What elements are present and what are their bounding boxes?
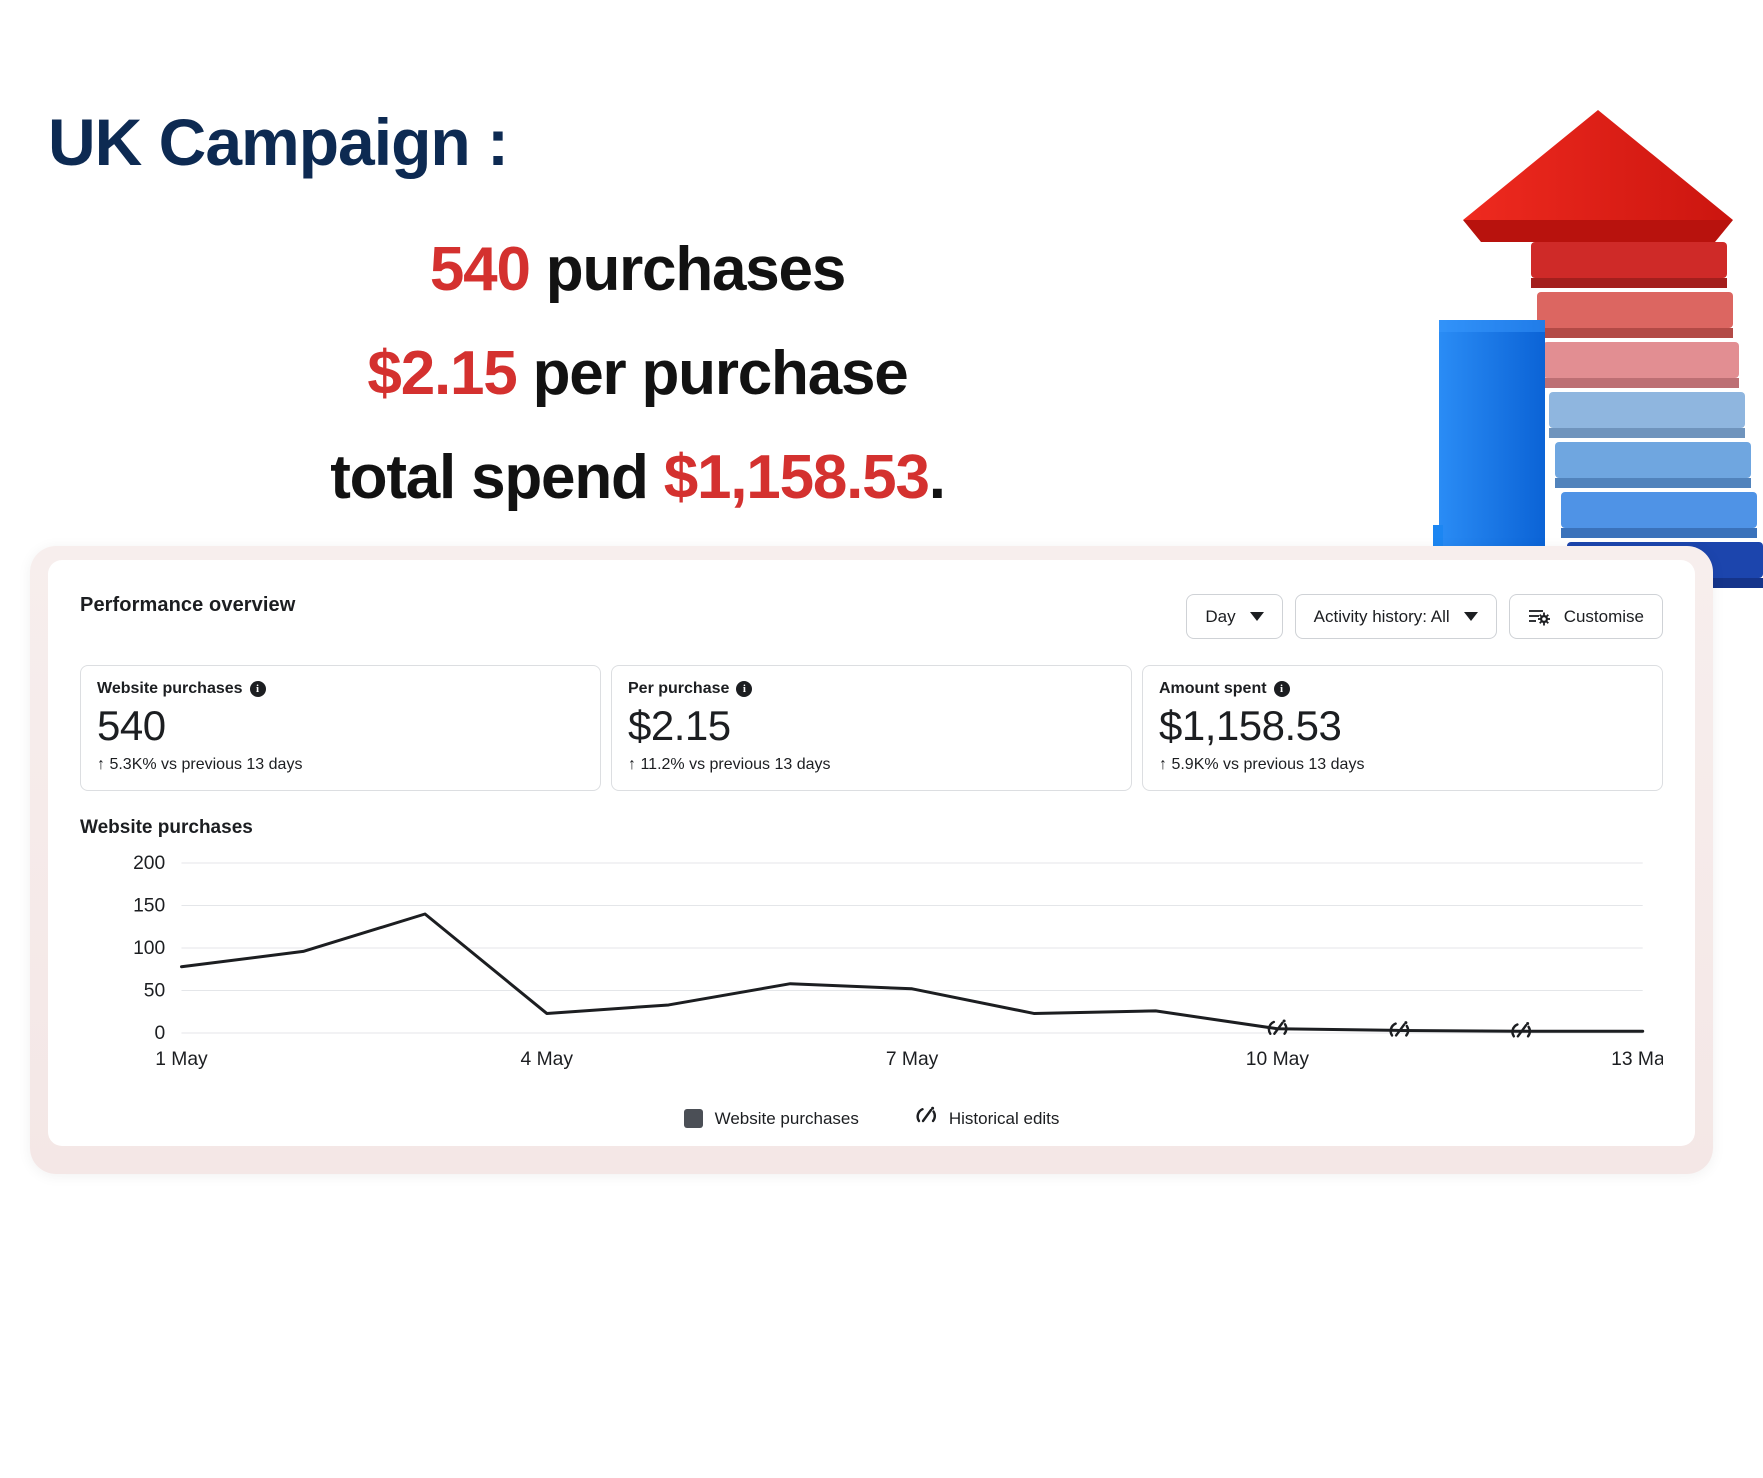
headline-total-spend-value: $1,158.53 — [664, 443, 929, 512]
chevron-down-icon — [1464, 612, 1478, 621]
metric-card-amount-spent: Amount spent i $1,158.53 ↑ 5.9K% vs prev… — [1142, 665, 1663, 791]
day-dropdown[interactable]: Day — [1186, 594, 1282, 639]
metric-delta-text: 5.9K% vs previous 13 days — [1171, 756, 1364, 773]
legend-label: Website purchases — [715, 1109, 859, 1129]
settings-sliders-icon — [1528, 607, 1550, 627]
dashboard-header: Performance overview Day Activity histor… — [80, 594, 1663, 639]
metric-value: 540 — [97, 702, 584, 750]
legend-item-website-purchases: Website purchases — [684, 1109, 859, 1129]
metric-delta-text: 11.2% vs previous 13 days — [640, 756, 830, 773]
svg-text:100: 100 — [133, 938, 165, 959]
metric-cards: Website purchases i 540 ↑ 5.3K% vs previ… — [80, 665, 1663, 791]
svg-text:10 May: 10 May — [1246, 1049, 1310, 1070]
arrow-up-icon: ↑ — [628, 756, 636, 773]
performance-overview-title: Performance overview — [80, 594, 295, 617]
metric-value: $1,158.53 — [1159, 702, 1646, 750]
info-icon[interactable]: i — [1274, 681, 1290, 697]
svg-text:150: 150 — [133, 896, 165, 917]
customise-button[interactable]: Customise — [1509, 594, 1663, 639]
website-purchases-line-chart: 0501001502001 May4 May7 May10 May13 May — [80, 849, 1663, 1079]
arrow-up-icon: ↑ — [1159, 756, 1167, 773]
headline-total-spend-label: total spend — [330, 443, 647, 512]
legend-item-historical-edits: Historical edits — [915, 1105, 1060, 1132]
metric-label-text: Per purchase — [628, 680, 729, 698]
metric-label: Per purchase i — [628, 680, 1115, 698]
info-icon[interactable]: i — [250, 681, 266, 697]
metric-value: $2.15 — [628, 702, 1115, 750]
metric-label: Amount spent i — [1159, 680, 1646, 698]
svg-text:0: 0 — [155, 1023, 166, 1044]
svg-text:1 May: 1 May — [155, 1049, 208, 1070]
svg-text:50: 50 — [144, 981, 165, 1002]
dashboard-panel: Performance overview Day Activity histor… — [30, 546, 1713, 1174]
metric-delta: ↑ 5.9K% vs previous 13 days — [1159, 756, 1646, 774]
chart-legend: Website purchases Historical edits — [80, 1105, 1663, 1132]
metric-card-website-purchases: Website purchases i 540 ↑ 5.3K% vs previ… — [80, 665, 601, 791]
legend-label: Historical edits — [949, 1109, 1060, 1129]
headline-per-purchase-label: per purchase — [533, 339, 908, 408]
page-title: UK Campaign : — [48, 104, 508, 180]
headline-stats: 540 purchases $2.15 per purchase total s… — [0, 218, 1275, 530]
headline-line-per-purchase: $2.15 per purchase — [0, 322, 1275, 426]
historical-edit-icon — [915, 1105, 937, 1132]
headline-per-purchase-value: $2.15 — [367, 339, 516, 408]
svg-text:13 May: 13 May — [1611, 1049, 1663, 1070]
dashboard-toolbar: Day Activity history: All — [1186, 594, 1663, 639]
rising-arrow-illustration — [1433, 70, 1763, 600]
page-root: UK Campaign : 540 purchases $2.15 per pu… — [0, 0, 1763, 1478]
metric-card-per-purchase: Per purchase i $2.15 ↑ 11.2% vs previous… — [611, 665, 1132, 791]
day-dropdown-label: Day — [1205, 607, 1235, 627]
svg-text:4 May: 4 May — [521, 1049, 574, 1070]
customise-label: Customise — [1564, 607, 1644, 627]
metric-label-text: Amount spent — [1159, 680, 1267, 698]
activity-history-dropdown[interactable]: Activity history: All — [1295, 594, 1497, 639]
arrow-up-icon: ↑ — [97, 756, 105, 773]
historical-edit-marker — [1512, 1022, 1529, 1036]
chart-heading: Website purchases — [80, 817, 1663, 839]
headline-line-total-spend: total spend $1,158.53. — [0, 426, 1275, 530]
metric-delta: ↑ 5.3K% vs previous 13 days — [97, 756, 584, 774]
headline-line-purchases: 540 purchases — [0, 218, 1275, 322]
legend-square-icon — [684, 1109, 703, 1128]
metric-label-text: Website purchases — [97, 680, 243, 698]
headline-purchases-label: purchases — [546, 235, 845, 304]
chevron-down-icon — [1250, 612, 1264, 621]
svg-text:7 May: 7 May — [886, 1049, 939, 1070]
metric-delta-text: 5.3K% vs previous 13 days — [109, 756, 302, 773]
svg-text:200: 200 — [133, 853, 165, 874]
metric-delta: ↑ 11.2% vs previous 13 days — [628, 756, 1115, 774]
headline-total-spend-suffix: . — [929, 443, 945, 512]
activity-history-label: Activity history: All — [1314, 607, 1450, 627]
info-icon[interactable]: i — [736, 681, 752, 697]
metric-label: Website purchases i — [97, 680, 584, 698]
headline-purchases-value: 540 — [430, 235, 530, 304]
dashboard-card: Performance overview Day Activity histor… — [48, 560, 1695, 1146]
chart-area: 0501001502001 May4 May7 May10 May13 May — [80, 849, 1663, 1099]
